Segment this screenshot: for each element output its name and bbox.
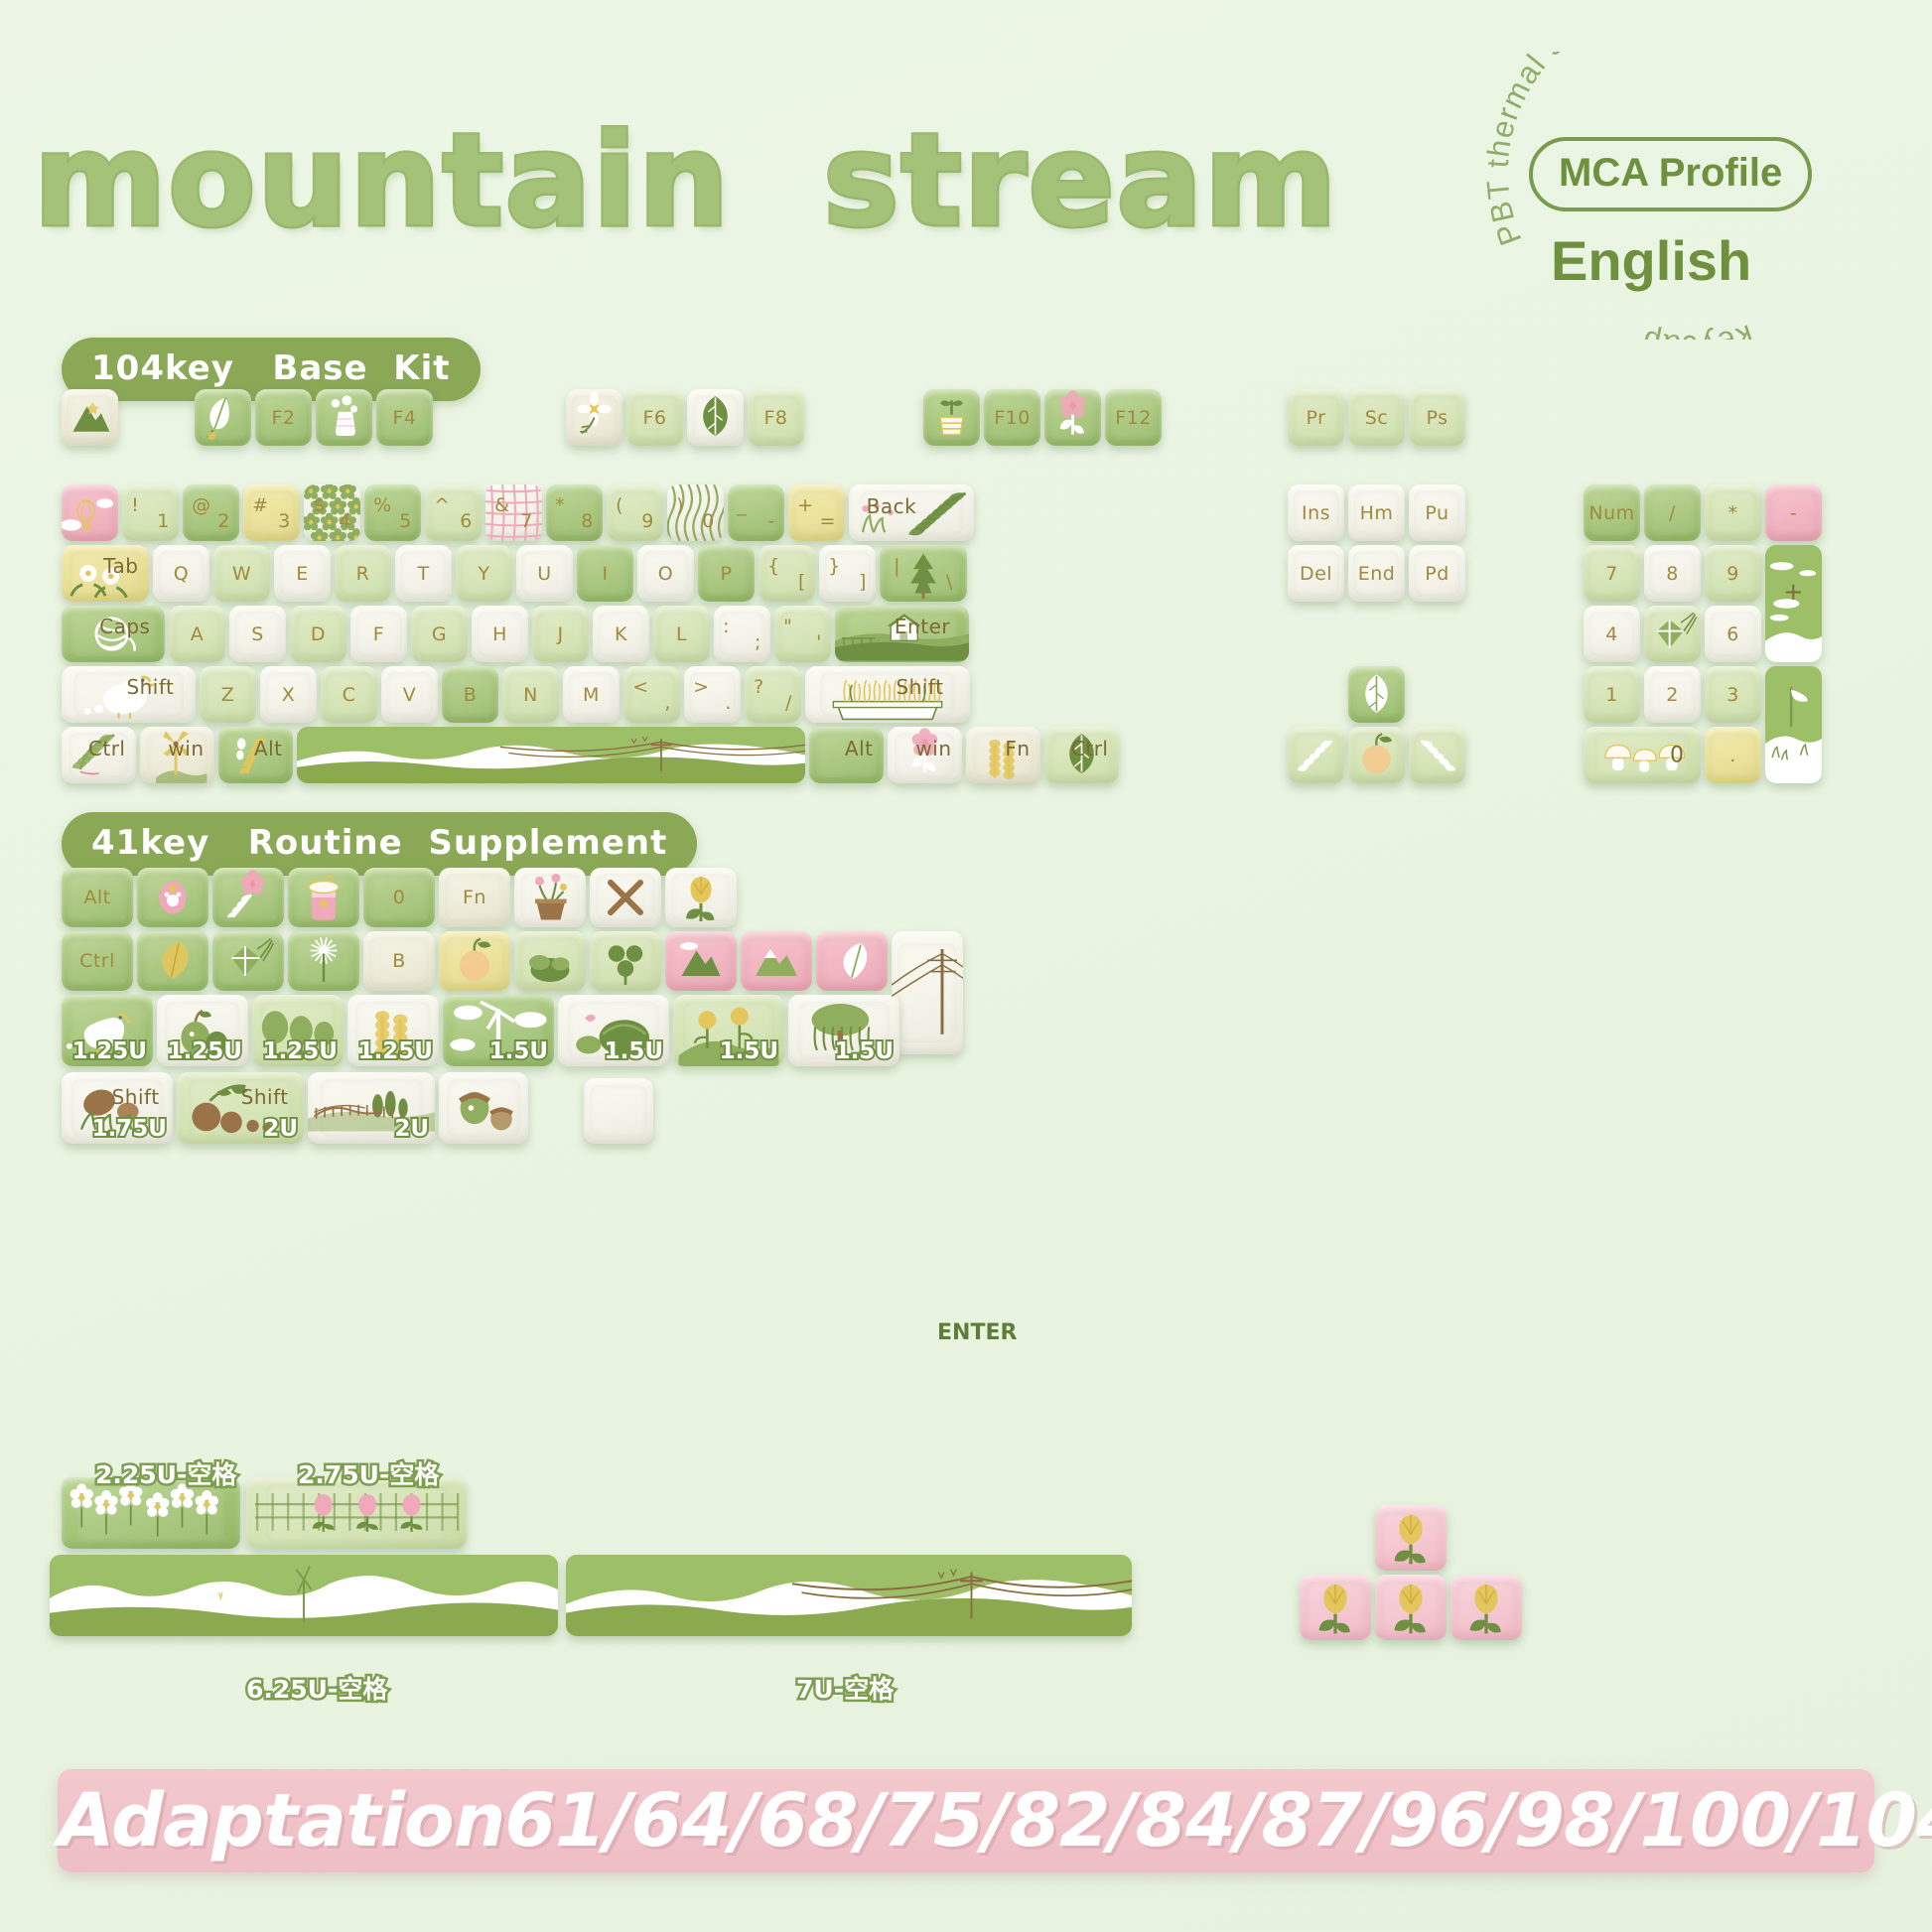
keycap-legend: . [1705, 745, 1761, 766]
supp-key-1.25U: 1.25U [62, 995, 153, 1066]
keycap-legend: P [698, 563, 755, 585]
key-I: I [577, 545, 633, 602]
keycap-legend-top: ! [131, 494, 139, 516]
supp-key-Alt: Alt [62, 868, 133, 927]
key-pu: Pu [1409, 484, 1465, 541]
supp-key-acorn [439, 1072, 528, 1144]
keycap-legend-bottom: ' [816, 631, 822, 653]
keycap-legend: Shift [896, 675, 943, 699]
key-.: >. [684, 666, 741, 723]
supp-key-leaf-pink-icon [816, 931, 888, 991]
keycap-face [77, 1484, 224, 1542]
keycap-legend: - [1765, 502, 1822, 524]
keycap-legend: Ps [1409, 407, 1465, 429]
pink-key-right [1450, 1575, 1522, 1640]
keycap-legend-bottom: 9 [641, 510, 654, 532]
keycap-legend: End [1348, 563, 1405, 585]
keycap-legend: Alt [62, 887, 133, 908]
key-Shift: Shift [62, 666, 196, 723]
supp-key-Ctrl: Ctrl [62, 931, 133, 991]
keycap-face [822, 937, 881, 985]
keycap-legend: Z [200, 684, 256, 706]
keycap-legend: / [1644, 502, 1701, 524]
key-Alt: Alt [218, 727, 293, 783]
keycap-legend-top: @ [192, 494, 211, 516]
caption-7u: 7U-空格 [796, 1670, 894, 1706]
supp-key-B: B [363, 931, 435, 991]
keycap-legend: B [363, 950, 435, 972]
keycap-legend: Shift [126, 675, 174, 699]
key-=: += [788, 484, 845, 541]
keycap-legend: F8 [748, 407, 804, 429]
keycap-legend-top: $ [313, 494, 326, 516]
keycap-face [1293, 733, 1339, 778]
key-Enter: Enter [835, 606, 969, 662]
keycap-legend: Pd [1409, 563, 1465, 585]
keycap-legend-top: % [373, 494, 392, 516]
keycap-face [218, 874, 277, 921]
keycap-face [447, 1079, 520, 1137]
keycap-face [67, 395, 113, 441]
supp-key-dandelion-icon [288, 931, 359, 991]
keycap-face [67, 490, 113, 536]
key-ps: Ps [1409, 389, 1465, 446]
keycap-legend: L [653, 623, 710, 645]
supp-key-1.75U: Shift1.75U [62, 1072, 173, 1144]
keycap-legend-top: | [894, 555, 900, 577]
keycap-legend: Enter [895, 615, 950, 638]
keycap-legend: W [213, 563, 270, 585]
numpad-9: 9 [1705, 545, 1761, 602]
keycap-legend-top: { [767, 555, 780, 577]
key-[: {[ [759, 545, 815, 602]
keycap-face [747, 937, 805, 985]
keycap-legend: 3 [1705, 684, 1761, 706]
key-Caps: Caps [62, 606, 165, 662]
keycap-legend: Pu [1409, 502, 1465, 524]
keycap-legend: 9 [1705, 563, 1761, 585]
key-arrow-right [1409, 727, 1465, 783]
keycap-legend: 4 [1584, 623, 1640, 645]
keycap-legend-bottom: . [725, 692, 732, 714]
keycap-legend: B [442, 684, 498, 706]
keycap-legend-bottom: 2 [217, 510, 230, 532]
keycap-legend: F [350, 623, 407, 645]
supp-key-1.25U: 1.25U [347, 995, 439, 1066]
keycap-face [294, 874, 352, 921]
key-;: :; [714, 606, 770, 662]
keycap-size-label: 1.25U [358, 1038, 433, 1064]
pink-key-down [1375, 1575, 1447, 1640]
keycap-legend: * [1705, 502, 1761, 524]
keycap-legend: win [915, 737, 951, 760]
keycap-size-label: 2U [394, 1116, 429, 1142]
keycap-legend-top: ) [676, 494, 684, 516]
keycap-face [95, 1563, 512, 1628]
key-hm: Hm [1348, 484, 1405, 541]
numpad-7: 7 [1584, 545, 1640, 602]
supp-key-yellow-leaf-icon [137, 931, 208, 991]
keycap-face [218, 937, 277, 985]
fn-key-F12: F12 [1105, 389, 1162, 446]
keycap-legend: N [502, 684, 559, 706]
key-end: End [1348, 545, 1405, 602]
keycap-face [1414, 733, 1460, 778]
keycap-legend-bottom: [ [798, 571, 806, 593]
key-5: %5 [364, 484, 421, 541]
supp-key-1.25U: 1.25U [252, 995, 344, 1066]
keycap-legend: Del [1288, 563, 1344, 585]
keycap-legend: Pr [1288, 407, 1344, 429]
key-Alt: Alt [809, 727, 884, 783]
keycap-legend: I [577, 563, 633, 585]
key-J: J [532, 606, 589, 662]
key-\: |\ [880, 545, 967, 602]
keycap-legend: U [516, 563, 573, 585]
keycap-legend-top: ^ [434, 494, 450, 516]
fn-key-vase-flowers-icon [316, 389, 372, 446]
keycap-legend: T [395, 563, 452, 585]
supp-key-bush-icon [514, 931, 586, 991]
keycap-size-label: 1.5U [605, 1038, 663, 1064]
key-N: N [502, 666, 559, 723]
adaptation-text: Adaptation61/64/68/75/82/84/87/96/98/100… [58, 1778, 1874, 1863]
keycap-legend-bottom: , [664, 692, 671, 714]
keycap-legend-top: : [723, 616, 730, 637]
keycap-legend-top: } [828, 555, 841, 577]
supp-key-2U: Shift2U [177, 1072, 304, 1144]
numpad-plus: + [1765, 545, 1822, 662]
key-M: M [563, 666, 620, 723]
keycap-face [520, 937, 579, 985]
keycap-legend: Back [867, 494, 917, 518]
keycap-legend: Ins [1288, 502, 1344, 524]
keycap-legend: Ctrl [88, 737, 126, 760]
keycap-size-label: 1.25U [263, 1038, 338, 1064]
keycap-size-label: 1.25U [168, 1038, 242, 1064]
keycap-legend: + [1765, 578, 1822, 606]
keycap-legend: J [532, 623, 589, 645]
keycap-size-label: 1.5U [835, 1038, 894, 1064]
key-': "' [774, 606, 831, 662]
fn-key-F4: F4 [376, 389, 433, 446]
keycap-legend-top: & [494, 494, 509, 516]
supp-key-potted-plant-icon [514, 868, 586, 927]
keycap-legend: 1 [1584, 684, 1640, 706]
key-7: &7 [485, 484, 542, 541]
fn-key-daisy-icon [566, 389, 622, 446]
keycap-legend: M [563, 684, 620, 706]
keycap-legend: Y [456, 563, 512, 585]
keycap-legend-top: " [783, 616, 792, 637]
supp-key-tulip-icon [665, 868, 737, 927]
keycap-legend-bottom: 0 [702, 510, 715, 532]
supp-key-crossed-sticks-icon [590, 868, 661, 927]
keycap-legend: K [593, 623, 649, 645]
keycap-face [1353, 733, 1400, 778]
keycap-face [1456, 1582, 1515, 1634]
keycap-face [445, 937, 503, 985]
keycap-legend-top: + [797, 494, 813, 516]
key-Fn: Fn [966, 727, 1040, 783]
keycap-legend: Ctrl [1071, 737, 1109, 760]
keycap-face [143, 874, 202, 921]
keycap-legend-bottom: \ [946, 571, 953, 593]
section-label-supplement: 41key Routine Supplement [62, 812, 697, 876]
keycap-face [897, 943, 956, 1041]
key-D: D [290, 606, 346, 662]
keycap-face [1353, 672, 1400, 718]
fn-key-F10: F10 [984, 389, 1040, 446]
language-label: English [1551, 228, 1751, 293]
supp-key-1.5U: 1.5U [558, 995, 669, 1066]
keycap-face [200, 395, 246, 441]
keycap-legend-bottom: / [785, 692, 792, 714]
key-arrow-left [1288, 727, 1344, 783]
keycap-legend-bottom: 8 [581, 510, 594, 532]
keycap-legend-top: ? [754, 676, 764, 698]
adaptation-banner: Adaptation61/64/68/75/82/84/87/96/98/100… [58, 1769, 1874, 1872]
keycap-legend-top: _ [737, 494, 747, 516]
keycap-face [1649, 612, 1696, 657]
product-badge: PBT thermal sublimation keycap MCA Profi… [1471, 52, 1908, 340]
key-3: #3 [243, 484, 300, 541]
key-sc: Sc [1348, 389, 1405, 446]
keycap-legend: F12 [1105, 407, 1162, 429]
key-H: H [472, 606, 528, 662]
supp-key-1.5U: 1.5U [788, 995, 899, 1066]
caption-2-25u: 2.25U-空格 [95, 1455, 236, 1491]
keycap-legend: 0 [363, 887, 435, 908]
key-win: win [888, 727, 962, 783]
key-1: !1 [122, 484, 179, 541]
keycap-legend: Num [1584, 502, 1640, 524]
keycap-legend: win [168, 737, 204, 760]
supp-key-enter [892, 931, 963, 1054]
key-T: T [395, 545, 452, 602]
keycap-face [671, 937, 730, 985]
keycap-legend: H [472, 623, 528, 645]
key-Tab: Tab [62, 545, 149, 602]
key-2: @2 [183, 484, 239, 541]
keycap-face [294, 937, 352, 985]
keycap-legend-bottom: = [819, 510, 835, 532]
keycap-face [1306, 1582, 1364, 1634]
keycap-legend: O [637, 563, 694, 585]
keycap-legend: R [335, 563, 391, 585]
keycap-legend: F2 [255, 407, 312, 429]
key-Z: Z [200, 666, 256, 723]
key-spacebar [297, 727, 805, 783]
key-art0 [62, 484, 118, 541]
fn-key-pink-flower-icon [1044, 389, 1101, 446]
numpad-art [1644, 606, 1701, 662]
caption-6-25u: 6.25U-空格 [246, 1670, 387, 1706]
key-L: L [653, 606, 710, 662]
pink-key-up [1375, 1505, 1447, 1571]
key-Ctrl: Ctrl [1044, 727, 1119, 783]
caption-2-75u: 2.75U-空格 [298, 1455, 439, 1491]
keycap-legend: Q [153, 563, 209, 585]
numpad-dot: . [1705, 727, 1761, 783]
keycap-legend-top: # [252, 494, 268, 516]
supp-key-kite-icon [212, 931, 284, 991]
keycap-legend: Caps [99, 615, 150, 638]
keycap-legend: Alt [845, 737, 874, 760]
fn-key-leaf-icon [687, 389, 744, 446]
keycap-legend: F6 [626, 407, 683, 429]
numpad-3: 3 [1705, 666, 1761, 723]
keycap-legend-bottom: 4 [339, 510, 351, 532]
numpad-enter [1765, 666, 1822, 783]
numpad-1: 1 [1584, 666, 1640, 723]
keycap-legend-bottom: ] [859, 571, 867, 593]
keycap-legend: D [290, 623, 346, 645]
key-V: V [381, 666, 438, 723]
key-E: E [274, 545, 331, 602]
supp-key-1.25U: 1.25U [157, 995, 248, 1066]
keycap-size-label: 1.25U [72, 1038, 147, 1064]
supp-key-pink-oval-flower-icon [137, 868, 208, 927]
keycap-size-label: 1.5U [489, 1038, 548, 1064]
supp-key-2U: 2U [308, 1072, 435, 1144]
key-arrow-up [1348, 666, 1405, 723]
keycap-legend: 0 [1670, 743, 1685, 767]
keycap-legend-top: > [693, 676, 709, 698]
keycap-legend: 6 [1705, 623, 1761, 645]
keycap-face [143, 937, 202, 985]
keycap-face [321, 395, 367, 441]
supp-key-clover-icon [590, 931, 661, 991]
keycap-legend: F4 [376, 407, 433, 429]
keycap-face [1770, 678, 1817, 771]
keycap-legend: F10 [984, 407, 1040, 429]
fn-key-F6: F6 [626, 389, 683, 446]
keycap-legend: 8 [1644, 563, 1701, 585]
keycap-face [1049, 395, 1096, 441]
keycap-face [692, 395, 739, 441]
keycap-legend: G [411, 623, 468, 645]
key-ins: Ins [1288, 484, 1344, 541]
key-G: G [411, 606, 468, 662]
keycap-legend: S [229, 623, 286, 645]
keycap-face [617, 1563, 1080, 1628]
numpad-6: 6 [1705, 606, 1761, 662]
keycap-legend-bottom: 5 [399, 510, 412, 532]
keycap-size-label: 1.5U [720, 1038, 778, 1064]
keycap-legend: A [169, 623, 225, 645]
keycap-legend-bottom: ; [755, 631, 761, 653]
supp-key-1.5U: 1.5U [673, 995, 784, 1066]
keycap-legend: Sc [1348, 407, 1405, 429]
keycap-legend-top: * [555, 494, 565, 516]
keycap-legend: Alt [254, 737, 283, 760]
key-Y: Y [456, 545, 512, 602]
keycap-face [1381, 1582, 1440, 1634]
fn-key-mountain-icon [62, 389, 118, 446]
keycap-face [571, 395, 618, 441]
numpad-Num: Num [1584, 484, 1640, 541]
keycap-legend: Fn [439, 887, 510, 908]
key-arrow-down [1348, 727, 1405, 783]
key-8: *8 [546, 484, 603, 541]
numpad-0: 0 [1584, 727, 1701, 783]
supp-key-0: 0 [363, 868, 435, 927]
keycap-face [590, 1085, 646, 1138]
key-U: U [516, 545, 573, 602]
fn-key-potted-sprout-icon [923, 389, 980, 446]
key-X: X [260, 666, 317, 723]
fn-key-F2: F2 [255, 389, 312, 446]
keycap-legend: Shift [241, 1085, 289, 1109]
key-pd: Pd [1409, 545, 1465, 602]
key-P: P [698, 545, 755, 602]
supp-key-pink-bloom-sprig-icon [212, 868, 284, 927]
key-F: F [350, 606, 407, 662]
numpad-4: 4 [1584, 606, 1640, 662]
supp-key-1.5U: 1.5U [443, 995, 554, 1066]
key-/: ?/ [745, 666, 801, 723]
keycap-size-label: 2U [263, 1116, 298, 1142]
keycap-face [1381, 1512, 1440, 1565]
key--: _- [728, 484, 784, 541]
key-A: A [169, 606, 225, 662]
key-win: win [140, 727, 214, 783]
keycap-face [928, 395, 975, 441]
keycap-legend-bottom: 3 [278, 510, 291, 532]
keycap-legend: Tab [103, 554, 138, 578]
supp-key-mountain-green-icon [741, 931, 812, 991]
key-Back: Back [849, 484, 974, 541]
fn-key-F8: F8 [748, 389, 804, 446]
page-title: mountain stream [34, 107, 1338, 255]
keycap-legend: Shift [112, 1085, 160, 1109]
keycap-legend: V [381, 684, 438, 706]
numpad-*: * [1705, 484, 1761, 541]
numpad-2: 2 [1644, 666, 1701, 723]
numpad--: - [1765, 484, 1822, 541]
key-]: }] [819, 545, 876, 602]
keycap-legend-bottom: 6 [460, 510, 473, 532]
numpad-8: 8 [1644, 545, 1701, 602]
key-4: $4 [304, 484, 360, 541]
keycap-legend: X [260, 684, 317, 706]
supp-key-mountain-pink-icon [665, 931, 737, 991]
key-6: ^6 [425, 484, 482, 541]
spacebar-7u [566, 1555, 1132, 1636]
keycap-face [343, 733, 759, 778]
keycap-legend: Ctrl [62, 950, 133, 972]
numpad-/: / [1644, 484, 1701, 541]
key-C: C [321, 666, 377, 723]
keycap-legend: Fn [1005, 737, 1030, 760]
keycap-face [596, 874, 654, 921]
supp-key-jam-jar-icon [288, 868, 359, 927]
key-pr: Pr [1288, 389, 1344, 446]
pink-key-left [1300, 1575, 1371, 1640]
keycap-legend-top: ( [616, 494, 623, 516]
key-S: S [229, 606, 286, 662]
fn-key-leaf-flower-icon [195, 389, 251, 446]
keycap-size-label: 1.75U [92, 1116, 167, 1142]
key-del: Del [1288, 545, 1344, 602]
circular-text-bottom: keycap [1638, 318, 1757, 340]
key-R: R [335, 545, 391, 602]
keycap-legend-bottom: 1 [157, 510, 170, 532]
mca-profile-pill: MCA Profile [1529, 137, 1812, 211]
key-W: W [213, 545, 270, 602]
key-9: (9 [607, 484, 663, 541]
